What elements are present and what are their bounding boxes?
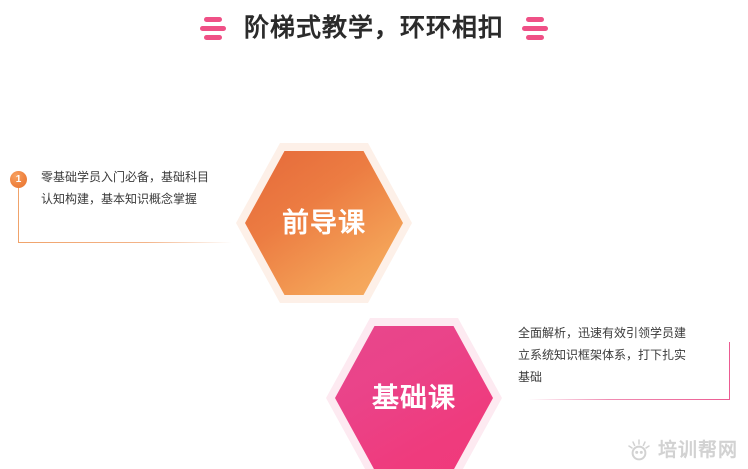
sun-face-icon — [627, 439, 651, 461]
deco-bar — [200, 26, 226, 31]
stage-badge-2: 2 — [721, 325, 738, 342]
deco-bar — [526, 35, 544, 40]
deco-bar — [204, 17, 222, 22]
watermark: 培训帮网 — [627, 439, 738, 461]
triple-bar-icon-right — [521, 17, 549, 40]
connector-horizontal — [18, 242, 232, 243]
connector-horizontal — [528, 399, 730, 400]
page-title: 阶梯式教学，环环相扣 — [0, 8, 748, 48]
deco-bar — [526, 17, 544, 22]
description-line: 立系统知识框架体系，打下扎实 — [518, 344, 703, 366]
description-line: 全面解析，迅速有效引领学员建 — [518, 322, 703, 344]
deco-bar — [204, 35, 222, 40]
description-line: 零基础学员入门必备，基础科目 — [41, 166, 231, 188]
stage-description-2: 全面解析，迅速有效引领学员建 立系统知识框架体系，打下扎实 基础 — [518, 322, 703, 388]
deco-bar — [522, 26, 548, 31]
stage-label: 基础课 — [372, 385, 456, 412]
slide-canvas: 阶梯式教学，环环相扣 前导课 基础课 1 零基础学员入门必备，基础科目 认知构建… — [0, 0, 748, 469]
watermark-text: 培训帮网 — [658, 441, 738, 460]
stage-hexagon-jichuke[interactable]: 基础课 — [326, 318, 502, 469]
description-line: 基础 — [518, 366, 703, 388]
stage-description-1: 零基础学员入门必备，基础科目 认知构建，基本知识概念掌握 — [41, 166, 231, 210]
stage-hexagon-qiandaoke[interactable]: 前导课 — [236, 143, 412, 303]
stage-badge-1: 1 — [10, 171, 27, 188]
description-line: 认知构建，基本知识概念掌握 — [41, 188, 231, 210]
page-title-text: 阶梯式教学，环环相扣 — [244, 8, 504, 48]
connector-vertical — [729, 342, 730, 399]
stage-label: 前导课 — [282, 210, 366, 237]
connector-vertical — [18, 188, 19, 242]
triple-bar-icon-left — [199, 17, 227, 40]
